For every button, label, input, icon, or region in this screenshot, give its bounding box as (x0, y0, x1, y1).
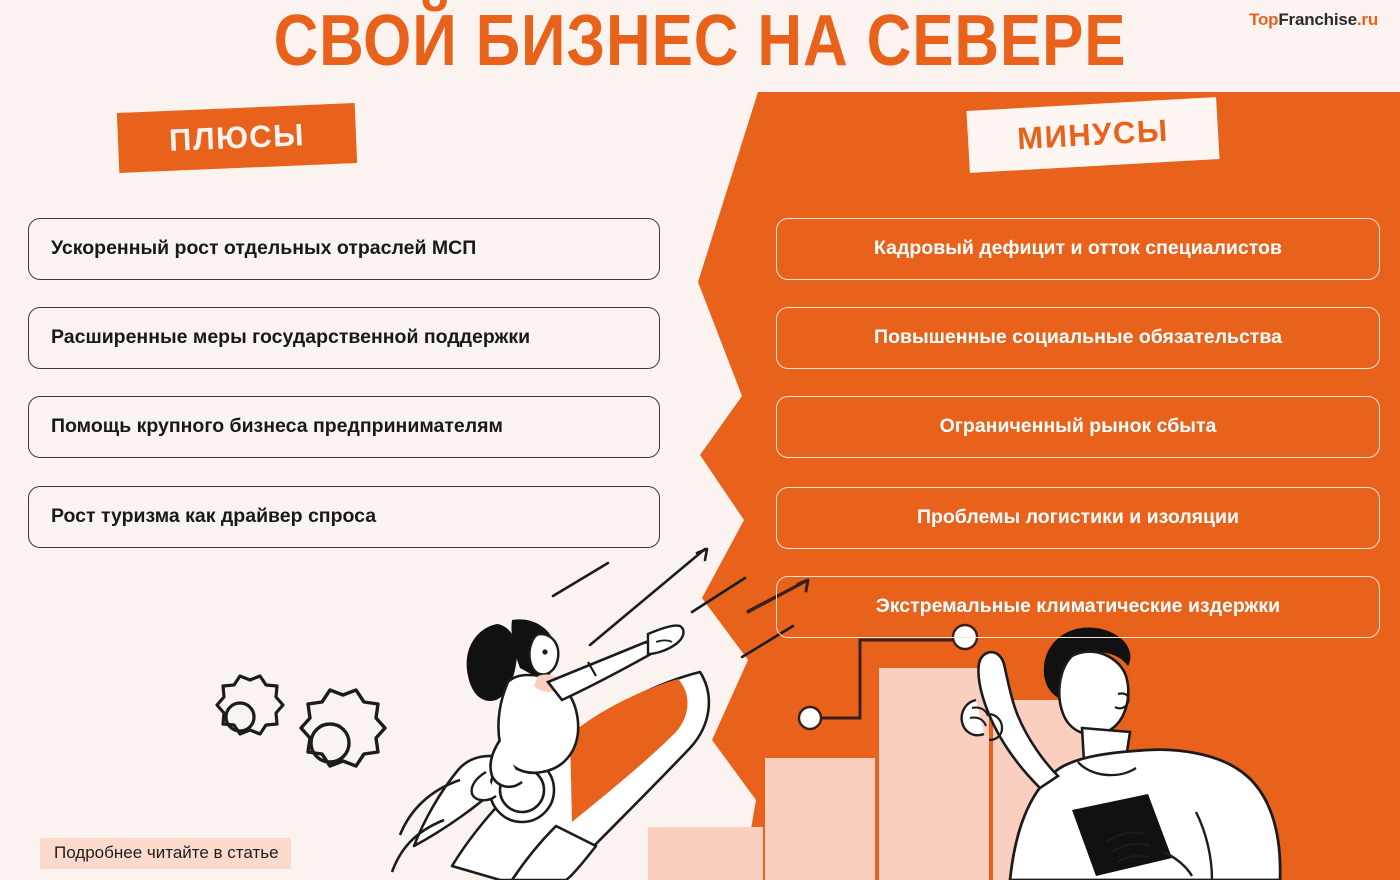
footnote-label[interactable]: Подробнее читайте в статье (40, 838, 291, 869)
data-point-dot (799, 707, 821, 729)
cons-card[interactable]: Повышенные социальные обязательства (776, 307, 1380, 369)
man-with-tablet-illustration (962, 627, 1281, 880)
pros-banner: ПЛЮСЫ (117, 103, 357, 173)
pros-card[interactable]: Рост туризма как драйвер спроса (28, 486, 660, 548)
pros-card[interactable]: Расширенные меры государственной поддерж… (28, 307, 660, 369)
logo-top: Top (1249, 10, 1278, 29)
bar-chart-illustration (648, 668, 1103, 880)
pros-card[interactable]: Помощь крупного бизнеса предпринимателям (28, 396, 660, 458)
pros-card[interactable]: Ускоренный рост отдельных отраслей МСП (28, 218, 660, 280)
rocket-icon (392, 672, 709, 880)
logo[interactable]: TopFranchise.ru (1249, 10, 1378, 30)
cons-banner: МИНУСЫ (966, 97, 1219, 173)
gear-icon-small (217, 676, 283, 734)
arrow-up-right-icon (553, 549, 800, 657)
logo-franchise: Franchise (1278, 10, 1357, 29)
logo-tld: .ru (1357, 10, 1378, 29)
cons-card[interactable]: Экстремальные климатические издержки (776, 576, 1380, 638)
infographic-root: СВОЙ БИЗНЕС НА СЕВЕРЕ TopFranchise.ru ПЛ… (0, 0, 1400, 880)
cons-card[interactable]: Проблемы логистики и изоляции (776, 487, 1380, 549)
page-title: СВОЙ БИЗНЕС НА СЕВЕРЕ (98, 4, 1302, 80)
cons-card[interactable]: Ограниченный рынок сбыта (776, 396, 1380, 458)
cons-card[interactable]: Кадровый дефицит и отток специалистов (776, 218, 1380, 280)
step-line-icon (806, 640, 963, 718)
gear-icon-large (301, 690, 385, 766)
woman-on-rocket-illustration (467, 619, 684, 800)
